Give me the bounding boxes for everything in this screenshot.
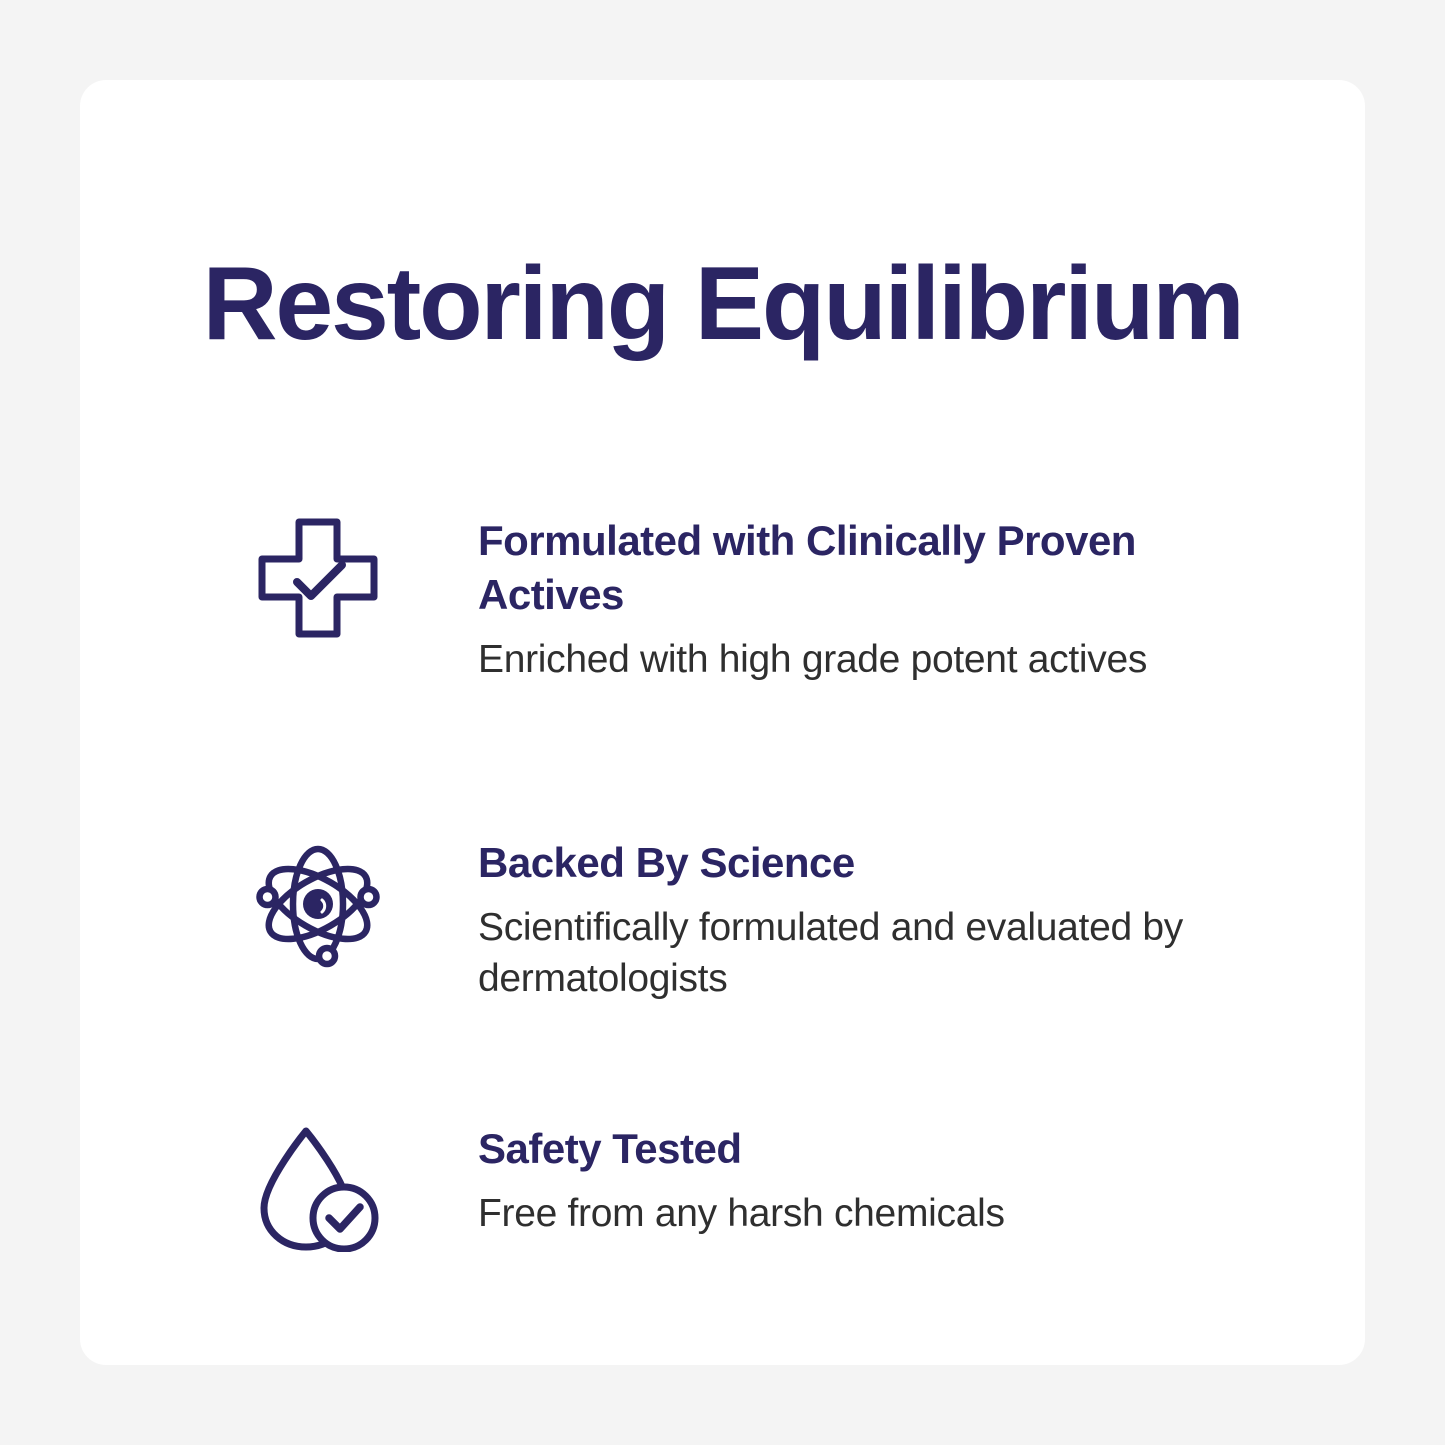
feature-heading: Backed By Science: [478, 836, 1238, 890]
content-card: Restoring Equilibrium Formulated with Cl…: [80, 80, 1365, 1365]
feature-heading: Safety Tested: [478, 1122, 1238, 1176]
feature-text-block: Backed By Science Scientifically formula…: [388, 830, 1278, 1005]
water-drop-check-icon: [248, 1116, 388, 1256]
feature-text-block: Safety Tested Free from any harsh chemic…: [388, 1116, 1278, 1239]
page-root: Restoring Equilibrium Formulated with Cl…: [0, 0, 1445, 1445]
feature-item-clinically-proven-actives: Formulated with Clinically Proven Active…: [248, 508, 1278, 685]
feature-body: Free from any harsh chemicals: [478, 1188, 1238, 1239]
feature-item-safety-tested: Safety Tested Free from any harsh chemic…: [248, 1116, 1278, 1256]
feature-body: Scientifically formulated and evaluated …: [478, 902, 1238, 1005]
medical-cross-check-icon: [248, 508, 388, 648]
atom-icon: [248, 830, 388, 970]
page-title: Restoring Equilibrium: [80, 248, 1365, 360]
feature-body: Enriched with high grade potent actives: [478, 634, 1238, 685]
feature-text-block: Formulated with Clinically Proven Active…: [388, 508, 1278, 685]
feature-item-backed-by-science: Backed By Science Scientifically formula…: [248, 830, 1278, 1005]
feature-heading: Formulated with Clinically Proven Active…: [478, 514, 1238, 622]
